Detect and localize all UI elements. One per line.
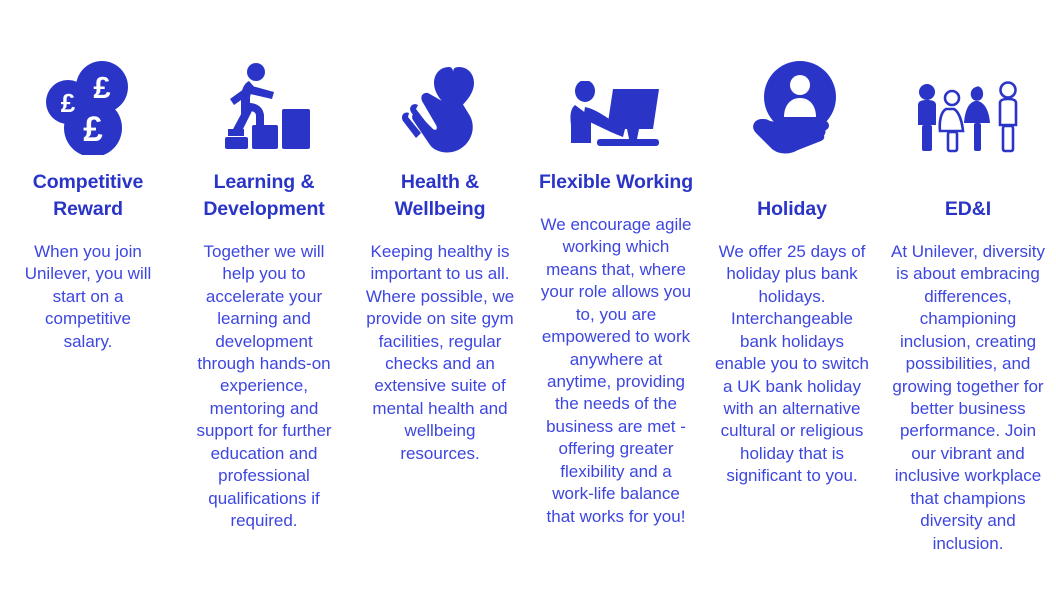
benefit-heading: Competitive Reward [8,169,168,223]
benefit-body: We encourage agile working which means t… [539,214,694,528]
benefit-card-learning-development: Learning & Development Together we will … [176,55,352,555]
hand-holding-person-icon [748,55,836,155]
person-climbing-steps-icon [216,55,312,155]
benefit-card-health-wellbeing: Health & Wellbeing Keeping healthy is im… [352,55,528,555]
diverse-people-icon [912,55,1024,155]
pound-coins-icon: £ £ £ [41,55,135,155]
benefit-heading: Holiday [757,196,827,223]
benefit-body: At Unilever, diversity is about embracin… [889,241,1047,555]
benefits-grid: £ £ £ Competitive Reward When you join U… [0,0,1056,555]
hand-holding-heart-icon [392,55,488,155]
benefit-body: We offer 25 days of holiday plus bank ho… [715,241,870,488]
person-at-computer-icon [567,55,665,155]
svg-text:£: £ [93,70,110,105]
benefit-card-holiday: Holiday We offer 25 days of holiday plus… [704,55,880,555]
svg-text:£: £ [83,110,103,149]
benefit-card-edi: ED&I At Unilever, diversity is about emb… [880,55,1056,555]
benefit-card-flexible-working: Flexible Working We encourage agile work… [528,55,704,555]
benefit-card-competitive-reward: £ £ £ Competitive Reward When you join U… [0,55,176,555]
benefit-heading: ED&I [945,196,991,223]
benefit-body: When you join Unilever, you will start o… [22,241,154,353]
benefit-heading: Learning & Development [184,169,344,223]
benefit-heading: Flexible Working [539,169,693,196]
benefit-heading: Health & Wellbeing [360,169,520,223]
benefit-body: Together we will help you to accelerate … [189,241,339,533]
svg-text:£: £ [61,88,76,118]
benefit-body: Keeping healthy is important to us all. … [364,241,516,465]
